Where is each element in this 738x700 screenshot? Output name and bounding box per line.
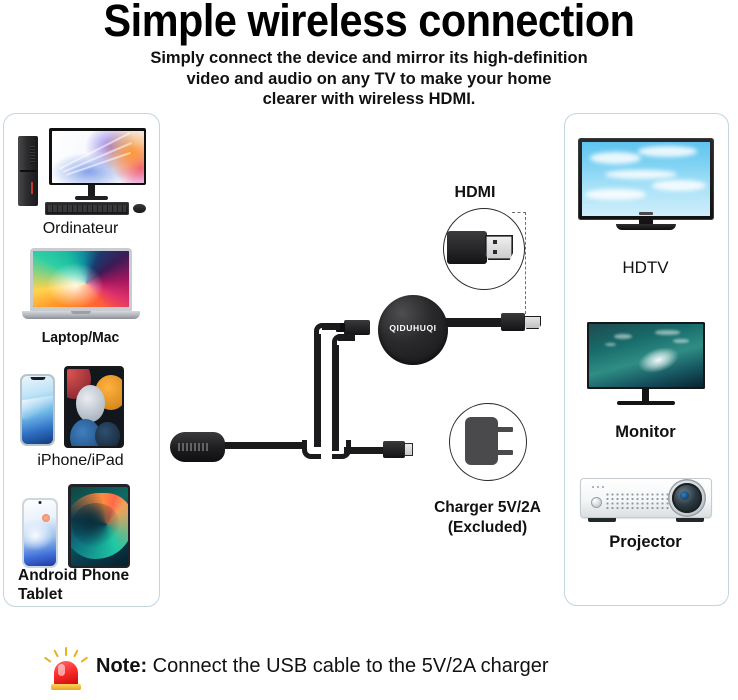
cable-a-corner-bottom: [302, 440, 321, 459]
usb-a-connector: [383, 441, 405, 458]
device-label-hdtv: HDTV: [564, 258, 727, 278]
android-phone-icon: [22, 498, 58, 568]
iphone-ipad-icon: [20, 366, 144, 448]
projector-foot-left: [588, 518, 616, 522]
wireless-display-dongle: QIDUHUQI: [378, 295, 448, 365]
device-label-android: Android Phone Tablet: [18, 566, 158, 604]
android-tablet-screen: [71, 487, 128, 566]
note-text: Note: Connect the USB cable to the 5V/2A…: [96, 653, 706, 679]
wireless-receiver-module: [170, 432, 225, 462]
monitor2-screen: [589, 324, 703, 387]
projector-lens: [672, 483, 702, 513]
laptop-screen: [33, 251, 129, 307]
projector-knob: [591, 497, 602, 508]
page-subtitle: Simply connect the device and mirror its…: [90, 48, 648, 110]
subtitle-line-2: video and audio on any TV to make your h…: [90, 69, 648, 90]
charger-label-line1: Charger 5V/2A: [385, 498, 590, 518]
hdtv-screen: [582, 142, 710, 216]
monitor-frame: [49, 128, 146, 185]
cable-b-vertical: [332, 345, 339, 451]
siren-dome: [54, 661, 78, 685]
charger-label-line2: (Excluded): [385, 518, 590, 538]
mouse-icon: [133, 204, 146, 213]
laptop-wallpaper: [33, 251, 129, 307]
monitor2-base: [617, 401, 675, 405]
projector-foot-right: [676, 518, 704, 522]
hdtv-icon: [578, 138, 714, 231]
device-label-monitor: Monitor: [564, 423, 727, 442]
hdmi-pin-2: [493, 250, 497, 254]
charger-prong-top: [497, 427, 513, 432]
laptop-icon: [22, 248, 140, 324]
subtitle-line-1: Simply connect the device and mirror its…: [90, 48, 648, 69]
charger-body: [465, 417, 498, 465]
android-phone-screen: [24, 500, 56, 566]
iphone-screen: [22, 376, 53, 444]
ipad-screen: [67, 369, 122, 446]
laptop-lid: [30, 248, 132, 311]
laptop-notch: [71, 311, 91, 314]
iphone-icon: [20, 374, 55, 446]
hdmi-leader-horizontal: [512, 212, 526, 213]
charger-prong-bottom: [497, 450, 513, 455]
projector-icon: [580, 474, 712, 529]
projector-indicator-dots: [592, 486, 606, 488]
note-prefix: Note:: [96, 655, 147, 677]
hdmi-leader-vertical: [525, 212, 526, 314]
monitor-base: [75, 196, 108, 200]
monitor-wallpaper: [52, 131, 144, 183]
device-label-iphone-ipad: iPhone/iPad: [3, 452, 158, 470]
hdmi-pin-1: [493, 240, 497, 244]
hdmi-connector-body: [447, 231, 487, 264]
charger-label: Charger 5V/2A (Excluded): [385, 498, 590, 538]
desktop-computer-icon: [18, 128, 146, 216]
hdtv-logo: [639, 212, 653, 215]
tower-slots: [30, 146, 35, 164]
keyboard-icon: [45, 202, 129, 215]
hdtv-stand-base: [616, 224, 676, 230]
usb-a-contacts: [404, 443, 413, 456]
cable-b-horizontal: [344, 447, 386, 454]
dongle-brand-label: QIDUHUQI: [378, 323, 448, 333]
device-label-laptop-mac: Laptop/Mac: [8, 329, 152, 346]
android-tablet-icon: [68, 484, 130, 568]
siren-alarm-icon: [46, 647, 86, 691]
monitor-screen: [52, 131, 144, 183]
hdmi-cable-right: [441, 318, 503, 327]
hdmi-plug-small-contacts: [524, 316, 541, 329]
monitor-icon: [587, 322, 705, 414]
device-label-android-line2: Tablet: [18, 585, 158, 604]
siren-base: [51, 684, 81, 690]
subtitle-line-3: clearer with wireless HDMI.: [90, 89, 648, 110]
android-camera-dot: [39, 501, 42, 504]
cable-a-horizontal: [224, 442, 304, 449]
cable-a-vertical: [314, 334, 321, 447]
hdmi-plug-small-body: [501, 313, 525, 331]
monitor2-frame: [587, 322, 705, 389]
tower-led: [31, 182, 33, 194]
receiver-label: [178, 443, 210, 451]
device-label-ordinateur: Ordinateur: [3, 220, 158, 238]
note-body: Connect the USB cable to the 5V/2A charg…: [153, 655, 549, 677]
tower-icon: [18, 136, 38, 206]
android-phone-tablet-icon: [22, 484, 146, 568]
micro-usb-connector: [344, 320, 370, 335]
ipad-icon: [64, 366, 124, 448]
hdmi-callout-label: HDMI: [425, 184, 525, 202]
page-title: Simple wireless connection: [30, 0, 709, 44]
note-row: Note: Connect the USB cable to the 5V/2A…: [46, 645, 706, 697]
hdmi-connector-contacts: [485, 235, 513, 260]
iphone-notch: [30, 377, 45, 381]
monitor-stand: [88, 185, 95, 196]
hdtv-frame: [578, 138, 714, 220]
device-label-android-line1: Android Phone: [18, 566, 158, 585]
